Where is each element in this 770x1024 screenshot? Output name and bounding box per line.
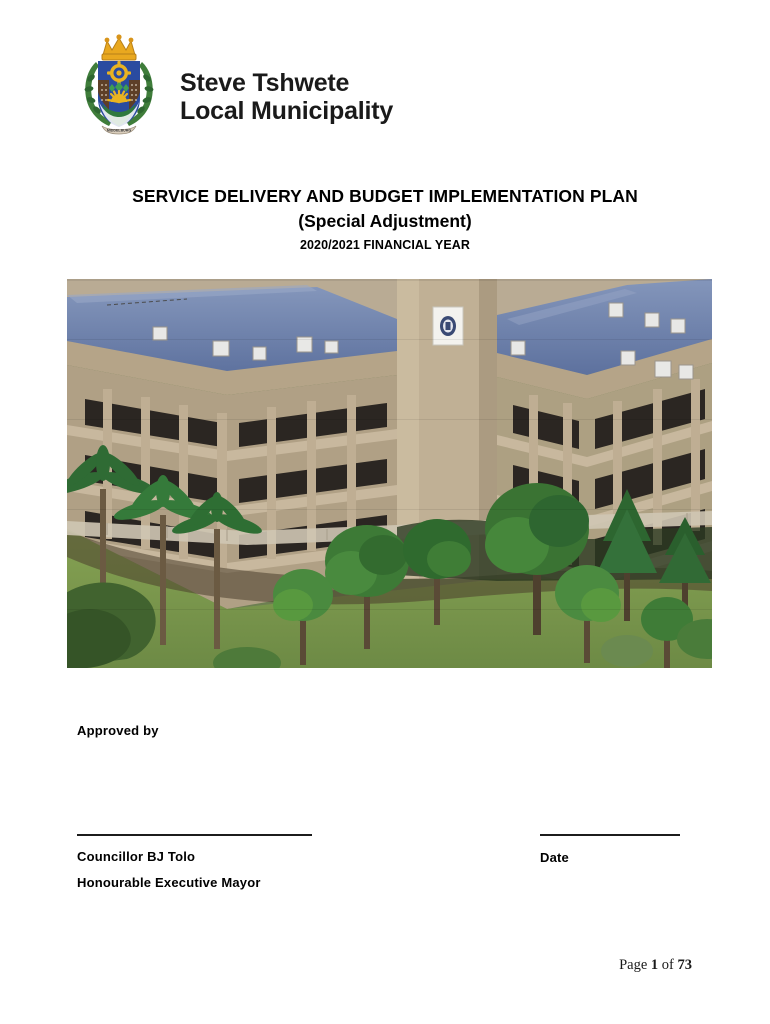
footer-middle: of [658,957,677,973]
financial-year: 2020/2021 FINANCIAL YEAR [0,238,770,252]
footer-total-pages: 73 [678,957,693,973]
svg-text:MIDDELBURG: MIDDELBURG [107,129,132,133]
title-block: SERVICE DELIVERY AND BUDGET IMPLEMENTATI… [0,186,770,252]
document-title: SERVICE DELIVERY AND BUDGET IMPLEMENTATI… [0,186,770,208]
letterhead: MIDDELBURG Steve Tshwete Local Municipal… [76,32,393,136]
signature-line-date [540,834,680,836]
building-aerial-illustration [67,279,712,668]
organisation-line-1: Steve Tshwete [180,69,393,97]
organisation-name: Steve Tshwete Local Municipality [180,43,393,125]
mayor-role: Honourable Executive Mayor [77,875,261,890]
document-subtitle: (Special Adjustment) [0,211,770,233]
municipal-building-photo [67,279,712,668]
mayor-name: Councillor BJ Tolo [77,849,195,864]
signature-line-mayor [77,834,312,836]
footer-prefix: Page [619,957,651,973]
organisation-line-2: Local Municipality [180,97,393,125]
document-page: MIDDELBURG Steve Tshwete Local Municipal… [0,0,770,1024]
municipal-coat-of-arms-icon: MIDDELBURG [76,32,162,136]
date-label: Date [540,850,569,865]
approved-by-heading: Approved by [77,723,159,738]
page-footer: Page 1 of 73 [0,957,692,974]
